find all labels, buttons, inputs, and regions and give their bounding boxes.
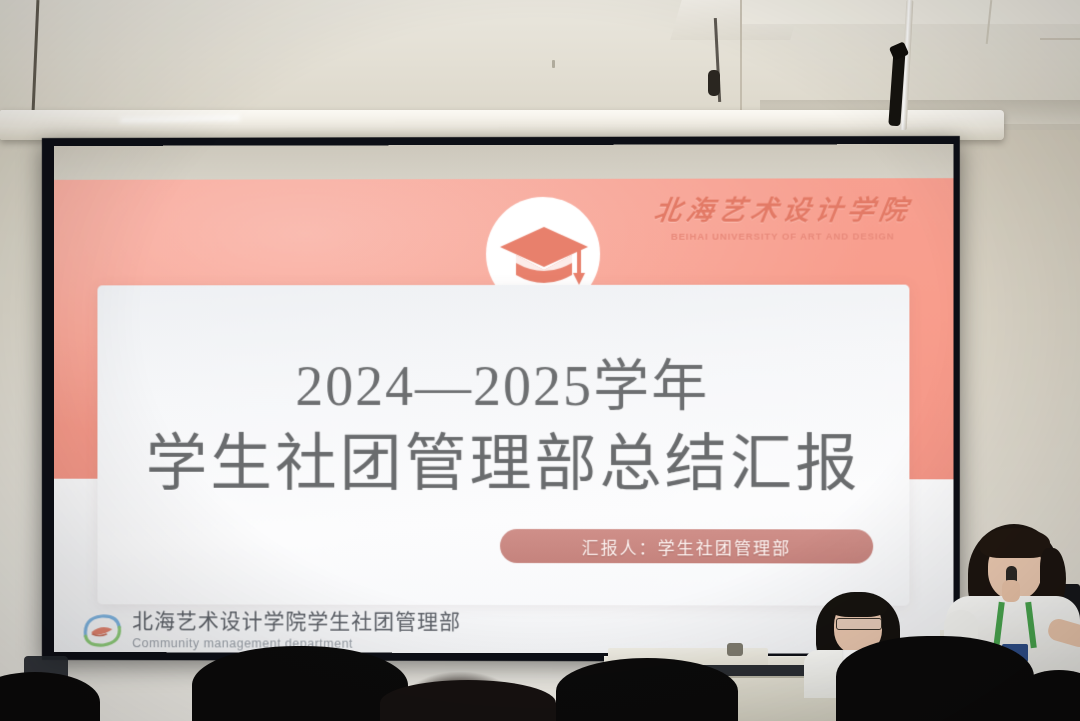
presenter-badge-label: 汇报人：学生社团管理部 [582, 534, 792, 559]
standing-speaker-fringe [980, 528, 1050, 558]
university-logo-en: BEIHAI UNIVERSITY OF ART AND DESIGN [636, 231, 929, 242]
ceiling-microphone-icon [708, 70, 720, 96]
glasses-icon [836, 618, 882, 630]
standing-speaker-hand [1002, 580, 1020, 602]
university-logo-cn: 北海艺术设计学院 [634, 196, 932, 226]
slide-footer-cn: 北海艺术设计学院学生社团管理部 [132, 611, 461, 636]
audience-head [192, 646, 408, 721]
wall-mark [552, 60, 555, 68]
swirl-logo-icon [80, 610, 124, 650]
desk-knob-icon [727, 643, 743, 656]
slide-content-card: 2024—2025学年 学生社团管理部总结汇报 汇报人：学生社团管理部 [97, 285, 909, 606]
university-logo: 北海艺术设计学院 BEIHAI UNIVERSITY OF ART AND DE… [636, 196, 929, 242]
audience-head [556, 658, 738, 721]
screen-top-margin [54, 144, 954, 182]
presenter-badge: 汇报人：学生社团管理部 [500, 529, 873, 564]
wall-seam [740, 0, 742, 118]
wall-seam-corner [1040, 38, 1080, 40]
seated-presenter-fringe [829, 593, 887, 617]
slide-title-line-2: 学生社团管理部总结汇报 [97, 413, 909, 503]
presentation-room-photo: 北海艺术设计学院 BEIHAI UNIVERSITY OF ART AND DE… [0, 0, 1080, 721]
slide-title-line-1: 2024—2025学年 [97, 341, 909, 422]
audience-head [836, 636, 1034, 721]
slide-footer-text: 北海艺术设计学院学生社团管理部 Community management dep… [132, 611, 461, 651]
audience-head [380, 680, 556, 721]
